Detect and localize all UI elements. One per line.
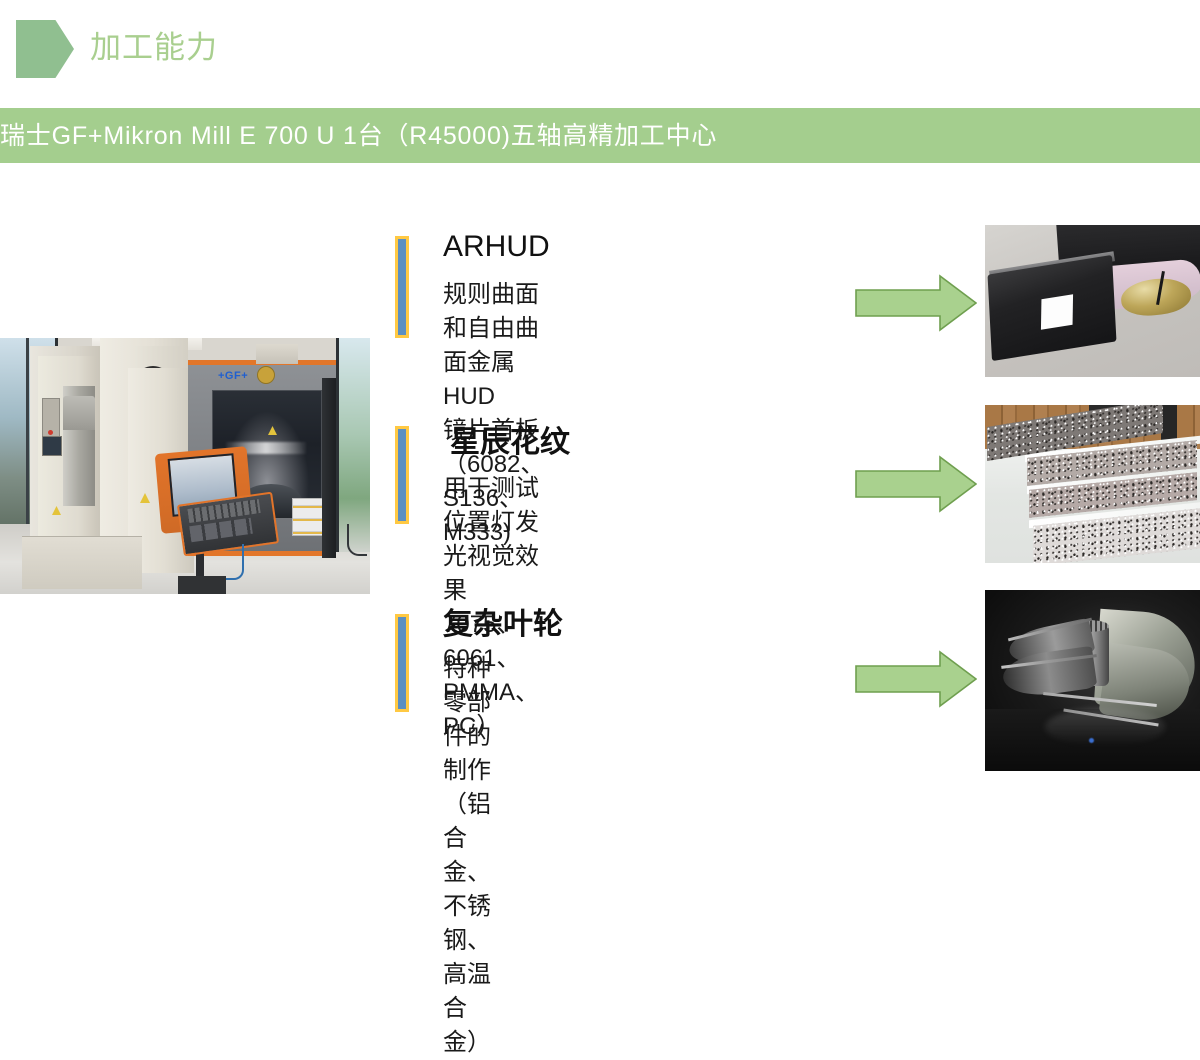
row-accent-bar <box>395 614 409 712</box>
arrow-right-icon <box>855 274 977 332</box>
row-photo <box>985 225 1200 377</box>
arrow-right-icon <box>855 455 977 513</box>
mikron-round-logo <box>257 366 275 384</box>
photo-pillar-right <box>322 378 336 558</box>
machine-status-led <box>48 430 53 435</box>
equipment-banner: 瑞士GF+Mikron Mill E 700 U 1台（R45000)五轴高精加… <box>0 108 1200 163</box>
row-body: 特种零部件的制作 （铝合金、不锈钢、高温合金） <box>443 652 491 1060</box>
photo-window-right-frame <box>336 338 370 552</box>
row-accent-bar <box>395 236 409 338</box>
machine-small-screen <box>42 436 62 456</box>
console-base <box>178 576 226 594</box>
console-cable <box>226 544 244 580</box>
row-title: ARHUD <box>443 228 550 266</box>
impeller-reflection <box>1045 708 1165 746</box>
row-photo <box>985 590 1200 771</box>
machine-enclosure-top-box <box>256 344 298 364</box>
machine-photo: +GF+ <box>0 338 370 594</box>
row-photo <box>985 405 1200 563</box>
equipment-banner-text: 瑞士GF+Mikron Mill E 700 U 1台（R45000)五轴高精加… <box>0 120 717 152</box>
row-accent-bar <box>395 426 409 524</box>
machine-base-skirt <box>22 536 142 589</box>
chevron-right-icon <box>16 20 74 78</box>
impeller-blue-highlight <box>1089 738 1094 743</box>
row-title: 复杂叶轮 <box>443 606 563 644</box>
machine-tool-tower-top <box>63 396 95 430</box>
arrow-right-icon <box>855 650 977 708</box>
row-title: 星辰花纹 <box>450 424 570 462</box>
page-header: 加工能力 <box>0 0 1200 96</box>
page-title: 加工能力 <box>90 26 218 70</box>
photo-cable <box>347 524 367 556</box>
hud-bright-highlight <box>1041 294 1073 329</box>
gf-brand-logo: +GF+ <box>218 370 248 382</box>
